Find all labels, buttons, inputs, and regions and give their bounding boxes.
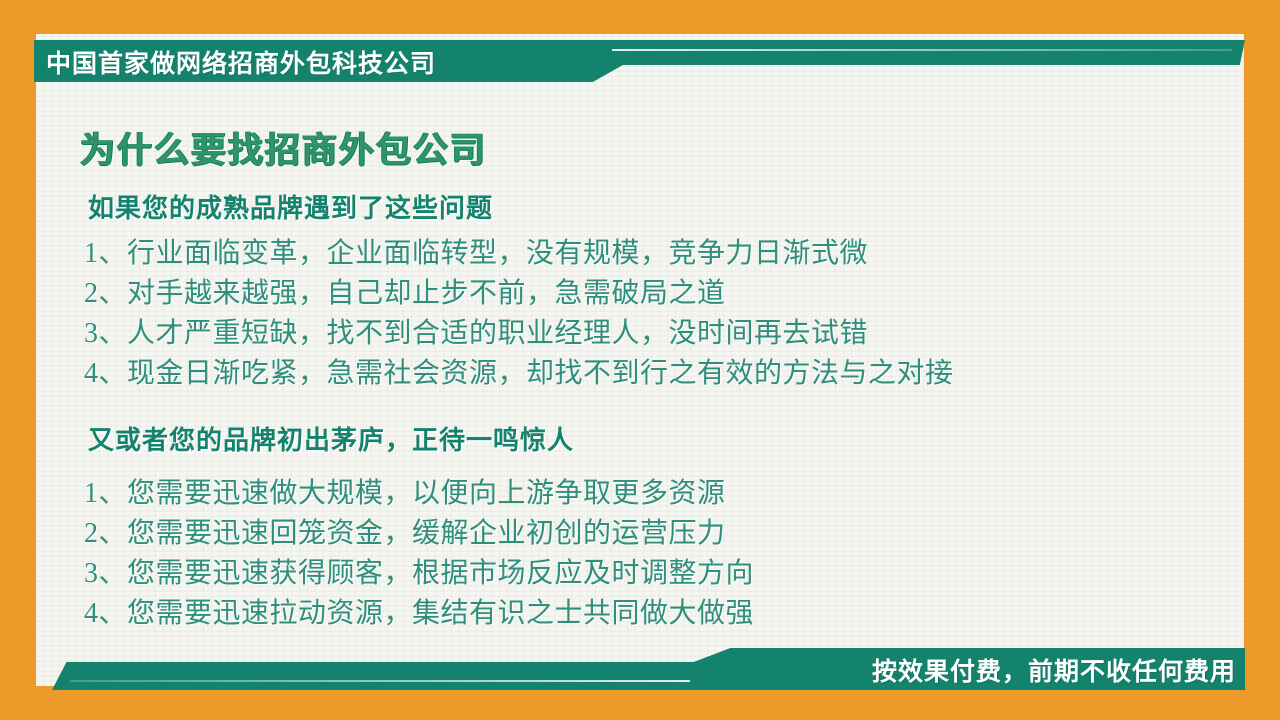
page-title: 为什么要找招商外包公司 (80, 122, 487, 173)
footer-green-strip (52, 662, 712, 690)
list-item: 2、您需要迅速回笼资金，缓解企业初创的运营压力 (84, 514, 754, 554)
list-item: 3、人才严重短缺，找不到合适的职业经理人，没时间再去试错 (84, 314, 954, 354)
list-item: 1、您需要迅速做大规模，以便向上游争取更多资源 (84, 474, 754, 514)
list-item: 4、您需要迅速拉动资源，集结有识之士共同做大做强 (84, 594, 754, 634)
section-list-2: 1、您需要迅速做大规模，以便向上游争取更多资源 2、您需要迅速回笼资金，缓解企业… (84, 474, 754, 634)
list-item: 4、现金日渐吃紧，急需社会资源，却找不到行之有效的方法与之对接 (84, 354, 954, 394)
footer-hairline-rule (70, 680, 690, 682)
footer-tagline: 按效果付费，前期不收任何费用 (872, 652, 1236, 688)
slide-root: 中国首家做网络招商外包科技公司 为什么要找招商外包公司 如果您的成熟品牌遇到了这… (0, 0, 1280, 720)
list-item: 1、行业面临变革，企业面临转型，没有规模，竞争力日渐式微 (84, 234, 954, 274)
header-title: 中国首家做网络招商外包科技公司 (46, 44, 436, 80)
header-green-strip (594, 40, 1245, 65)
section-heading-1: 如果您的成熟品牌遇到了这些问题 (88, 188, 493, 225)
header-hairline-rule (612, 49, 1232, 51)
list-item: 3、您需要迅速获得顾客，根据市场反应及时调整方向 (84, 554, 754, 594)
section-heading-2: 又或者您的品牌初出茅庐，正待一鸣惊人 (88, 420, 574, 457)
section-list-1: 1、行业面临变革，企业面临转型，没有规模，竞争力日渐式微 2、对手越来越强，自己… (84, 234, 954, 394)
list-item: 2、对手越来越强，自己却止步不前，急需破局之道 (84, 274, 954, 314)
